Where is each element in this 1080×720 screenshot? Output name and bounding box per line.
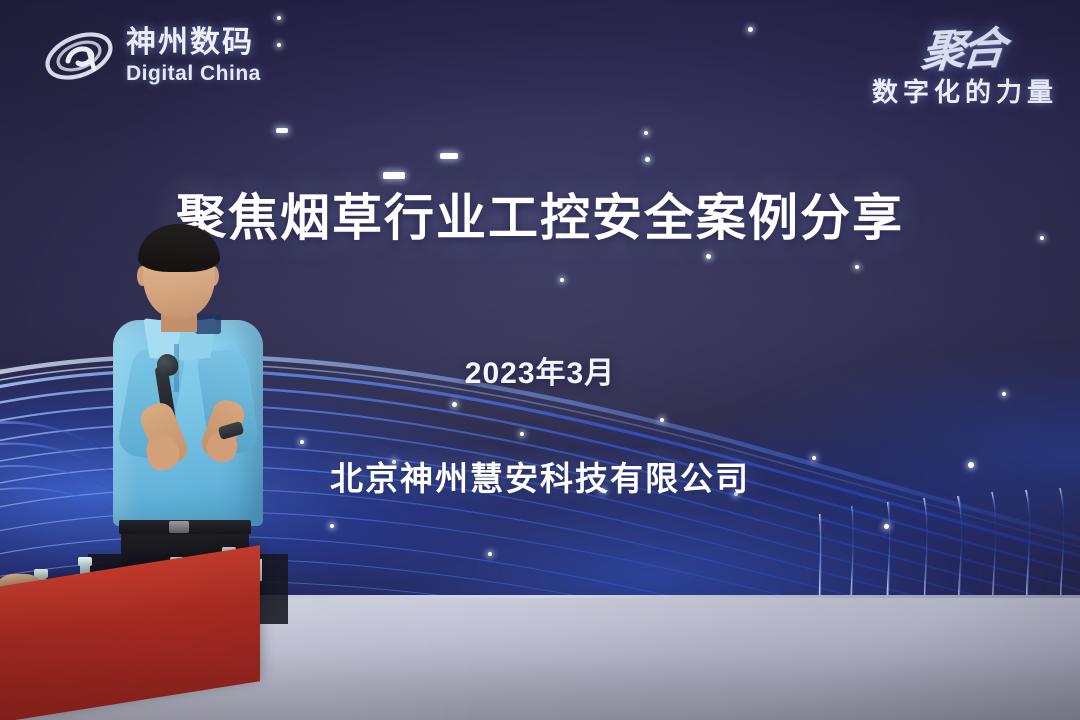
digital-china-logo: 神州数码 Digital China xyxy=(42,18,312,94)
stage-photo-scene: 神州数码 Digital China 聚合 数字化的力量 聚焦烟草行业工控安全案… xyxy=(0,0,1080,720)
digital-china-swirl-icon xyxy=(42,25,116,87)
slogan-calligraphy: 聚合 xyxy=(919,12,1005,80)
speaker-shirt-logo-icon xyxy=(195,314,221,334)
brand-name-en: Digital China xyxy=(126,63,261,84)
speaker-belt-buckle xyxy=(169,521,189,533)
speaker-hair xyxy=(138,224,220,272)
brand-name-cn: 神州数码 xyxy=(126,28,261,58)
digital-china-wordmark: 神州数码 Digital China xyxy=(126,28,261,84)
event-slogan: 聚合 数字化的力量 xyxy=(798,14,1058,116)
